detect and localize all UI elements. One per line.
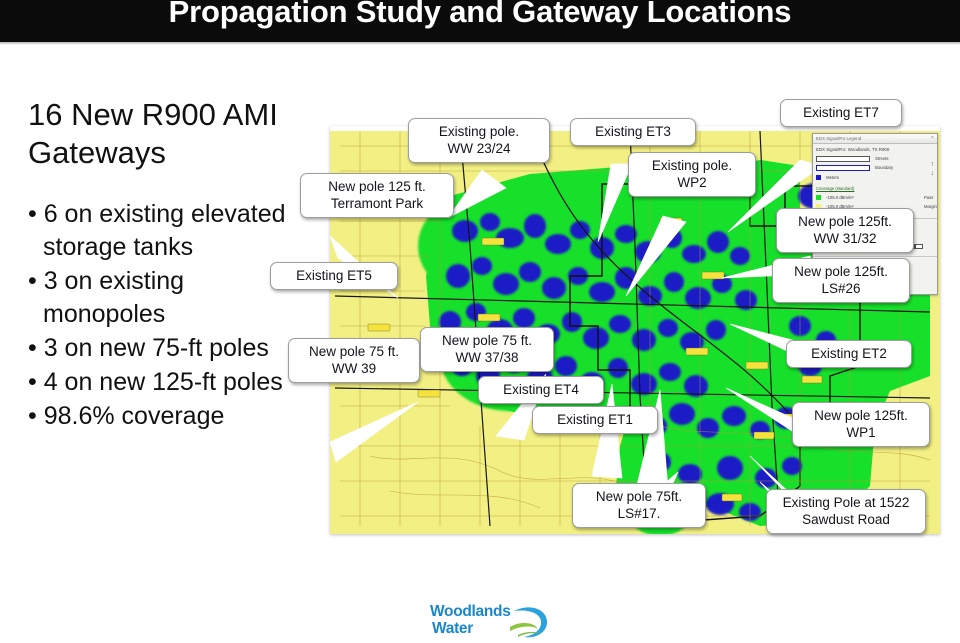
callout-new-pole-ww39[interactable]: New pole 75 ft. WW 39 [288, 338, 420, 383]
callout-existing-et3[interactable]: Existing ET3 [570, 118, 696, 146]
callout-existing-et4[interactable]: Existing ET4 [478, 376, 604, 404]
coverage-value: -105.0 dBm/m² [826, 195, 854, 200]
callout-new-pole-ls26[interactable]: New pole 125ft. LS#26 [772, 258, 910, 303]
banner-shadow [0, 42, 960, 45]
boundary-swatch [816, 165, 870, 171]
title-banner: Propagation Study and Gateway Locations [0, 0, 960, 42]
list-item: 3 on new 75-ft poles [28, 332, 308, 365]
legend-label: Boundary [875, 165, 893, 170]
legend-titlebar: EDX SignalPro Legend × [813, 134, 937, 144]
coverage-status: Pass [924, 195, 933, 200]
page-title: Propagation Study and Gateway Locations [0, 0, 960, 30]
legend-divider [813, 256, 937, 257]
slide-root: Propagation Study and Gateway Locations … [0, 0, 960, 640]
list-item: 3 on existing monopoles [28, 265, 308, 331]
logo-line-1: Woodlands [430, 603, 511, 621]
callout-new-pole-terramont-park[interactable]: New pole 125 ft. Terramont Park [300, 173, 454, 218]
callout-new-pole-wp1[interactable]: New pole 125ft. WP1 [792, 402, 930, 447]
list-item: 98.6% coverage [28, 400, 308, 433]
close-icon[interactable]: × [931, 135, 934, 141]
legend-row-meters: Meters [816, 175, 839, 180]
headline: 16 New R900 AMI Gateways [28, 96, 308, 172]
callout-new-pole-ww3738[interactable]: New pole 75 ft. WW 37/38 [420, 327, 554, 372]
callout-new-pole-ww3132[interactable]: New pole 125ft. WW 31/32 [776, 208, 914, 253]
water-swoosh-icon [508, 601, 550, 641]
legend-window-title: EDX SignalPro Legend [816, 136, 861, 141]
callout-existing-et5[interactable]: Existing ET5 [270, 262, 398, 290]
coverage-status: Marginal [924, 204, 938, 209]
legend-label: Streets [875, 156, 888, 161]
legend-row-boundary: Boundary [816, 165, 893, 171]
list-item: 6 on existing elevated storage tanks [28, 198, 308, 264]
callout-existing-pole-wp2[interactable]: Existing pole. WP2 [628, 152, 756, 197]
callout-existing-et1[interactable]: Existing ET1 [532, 406, 658, 434]
callout-existing-et7[interactable]: Existing ET7 [780, 99, 902, 127]
streets-swatch [816, 156, 870, 162]
list-item: 4 on new 125-ft poles [28, 366, 308, 399]
woodlands-water-logo: Woodlands Water [430, 603, 540, 643]
logo-line-2: Water [432, 620, 473, 638]
arrow-up-icon[interactable]: ↑ [931, 160, 935, 169]
legend-subtitle: EDX SignalPro: Woodlands, TX R900 [816, 147, 889, 152]
bullet-list: 6 on existing elevated storage tanks 3 o… [28, 198, 308, 433]
left-text-panel: 16 New R900 AMI Gateways 6 on existing e… [28, 96, 308, 434]
legend-scroll-controls[interactable]: ↑ ↓ [931, 160, 935, 178]
callout-existing-pole-ww2324[interactable]: Existing pole. WW 23/24 [408, 118, 550, 163]
legend-coverage-pass: -105.0 dBm/m² Pass [816, 195, 854, 200]
callout-existing-pole-sawdust-road[interactable]: Existing Pole at 1522 Sawdust Road [766, 489, 926, 534]
pass-swatch [816, 195, 821, 200]
meters-swatch [816, 175, 821, 180]
legend-label: Meters [826, 175, 839, 180]
legend-row-streets: Streets [816, 156, 888, 162]
arrow-down-icon[interactable]: ↓ [931, 169, 935, 178]
callout-existing-et2[interactable]: Existing ET2 [786, 340, 912, 368]
callout-new-pole-ls17[interactable]: New pole 75ft. LS#17. [572, 483, 706, 528]
legend-coverage-heading: Coverage (standard) [816, 186, 854, 191]
